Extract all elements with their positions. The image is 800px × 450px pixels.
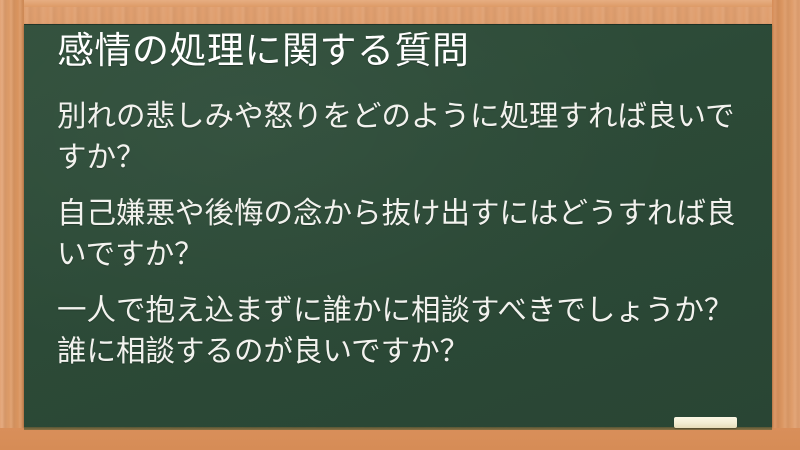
frame-left-edge: [0, 0, 24, 450]
board-bottom-seam: [24, 427, 772, 430]
list-item: 自己嫌悪や後悔の念から抜け出すにはどうすれば良いですか？: [57, 193, 754, 275]
chalkboard-slide: 感情の処理に関する質問 別れの悲しみや怒りをどのように処理すれば良いですか？ 自…: [0, 0, 800, 450]
chalk-piece: [674, 417, 737, 428]
frame-top-edge: [0, 0, 800, 7]
frame-bottom-edge: [0, 428, 800, 450]
question-list: 別れの悲しみや怒りをどのように処理すれば良いですか？ 自己嫌悪や後悔の念から抜け…: [57, 96, 754, 372]
chalkboard-surface: 感情の処理に関する質問 別れの悲しみや怒りをどのように処理すれば良いですか？ 自…: [24, 24, 772, 427]
list-item: 別れの悲しみや怒りをどのように処理すれば良いですか？: [57, 96, 754, 178]
slide-title: 感情の処理に関する質問: [57, 30, 470, 73]
list-item: 一人で抱え込まずに誰かに相談すべきでしょうか？誰に相談するのが良いですか？: [57, 290, 754, 372]
frame-right-edge: [772, 0, 800, 450]
